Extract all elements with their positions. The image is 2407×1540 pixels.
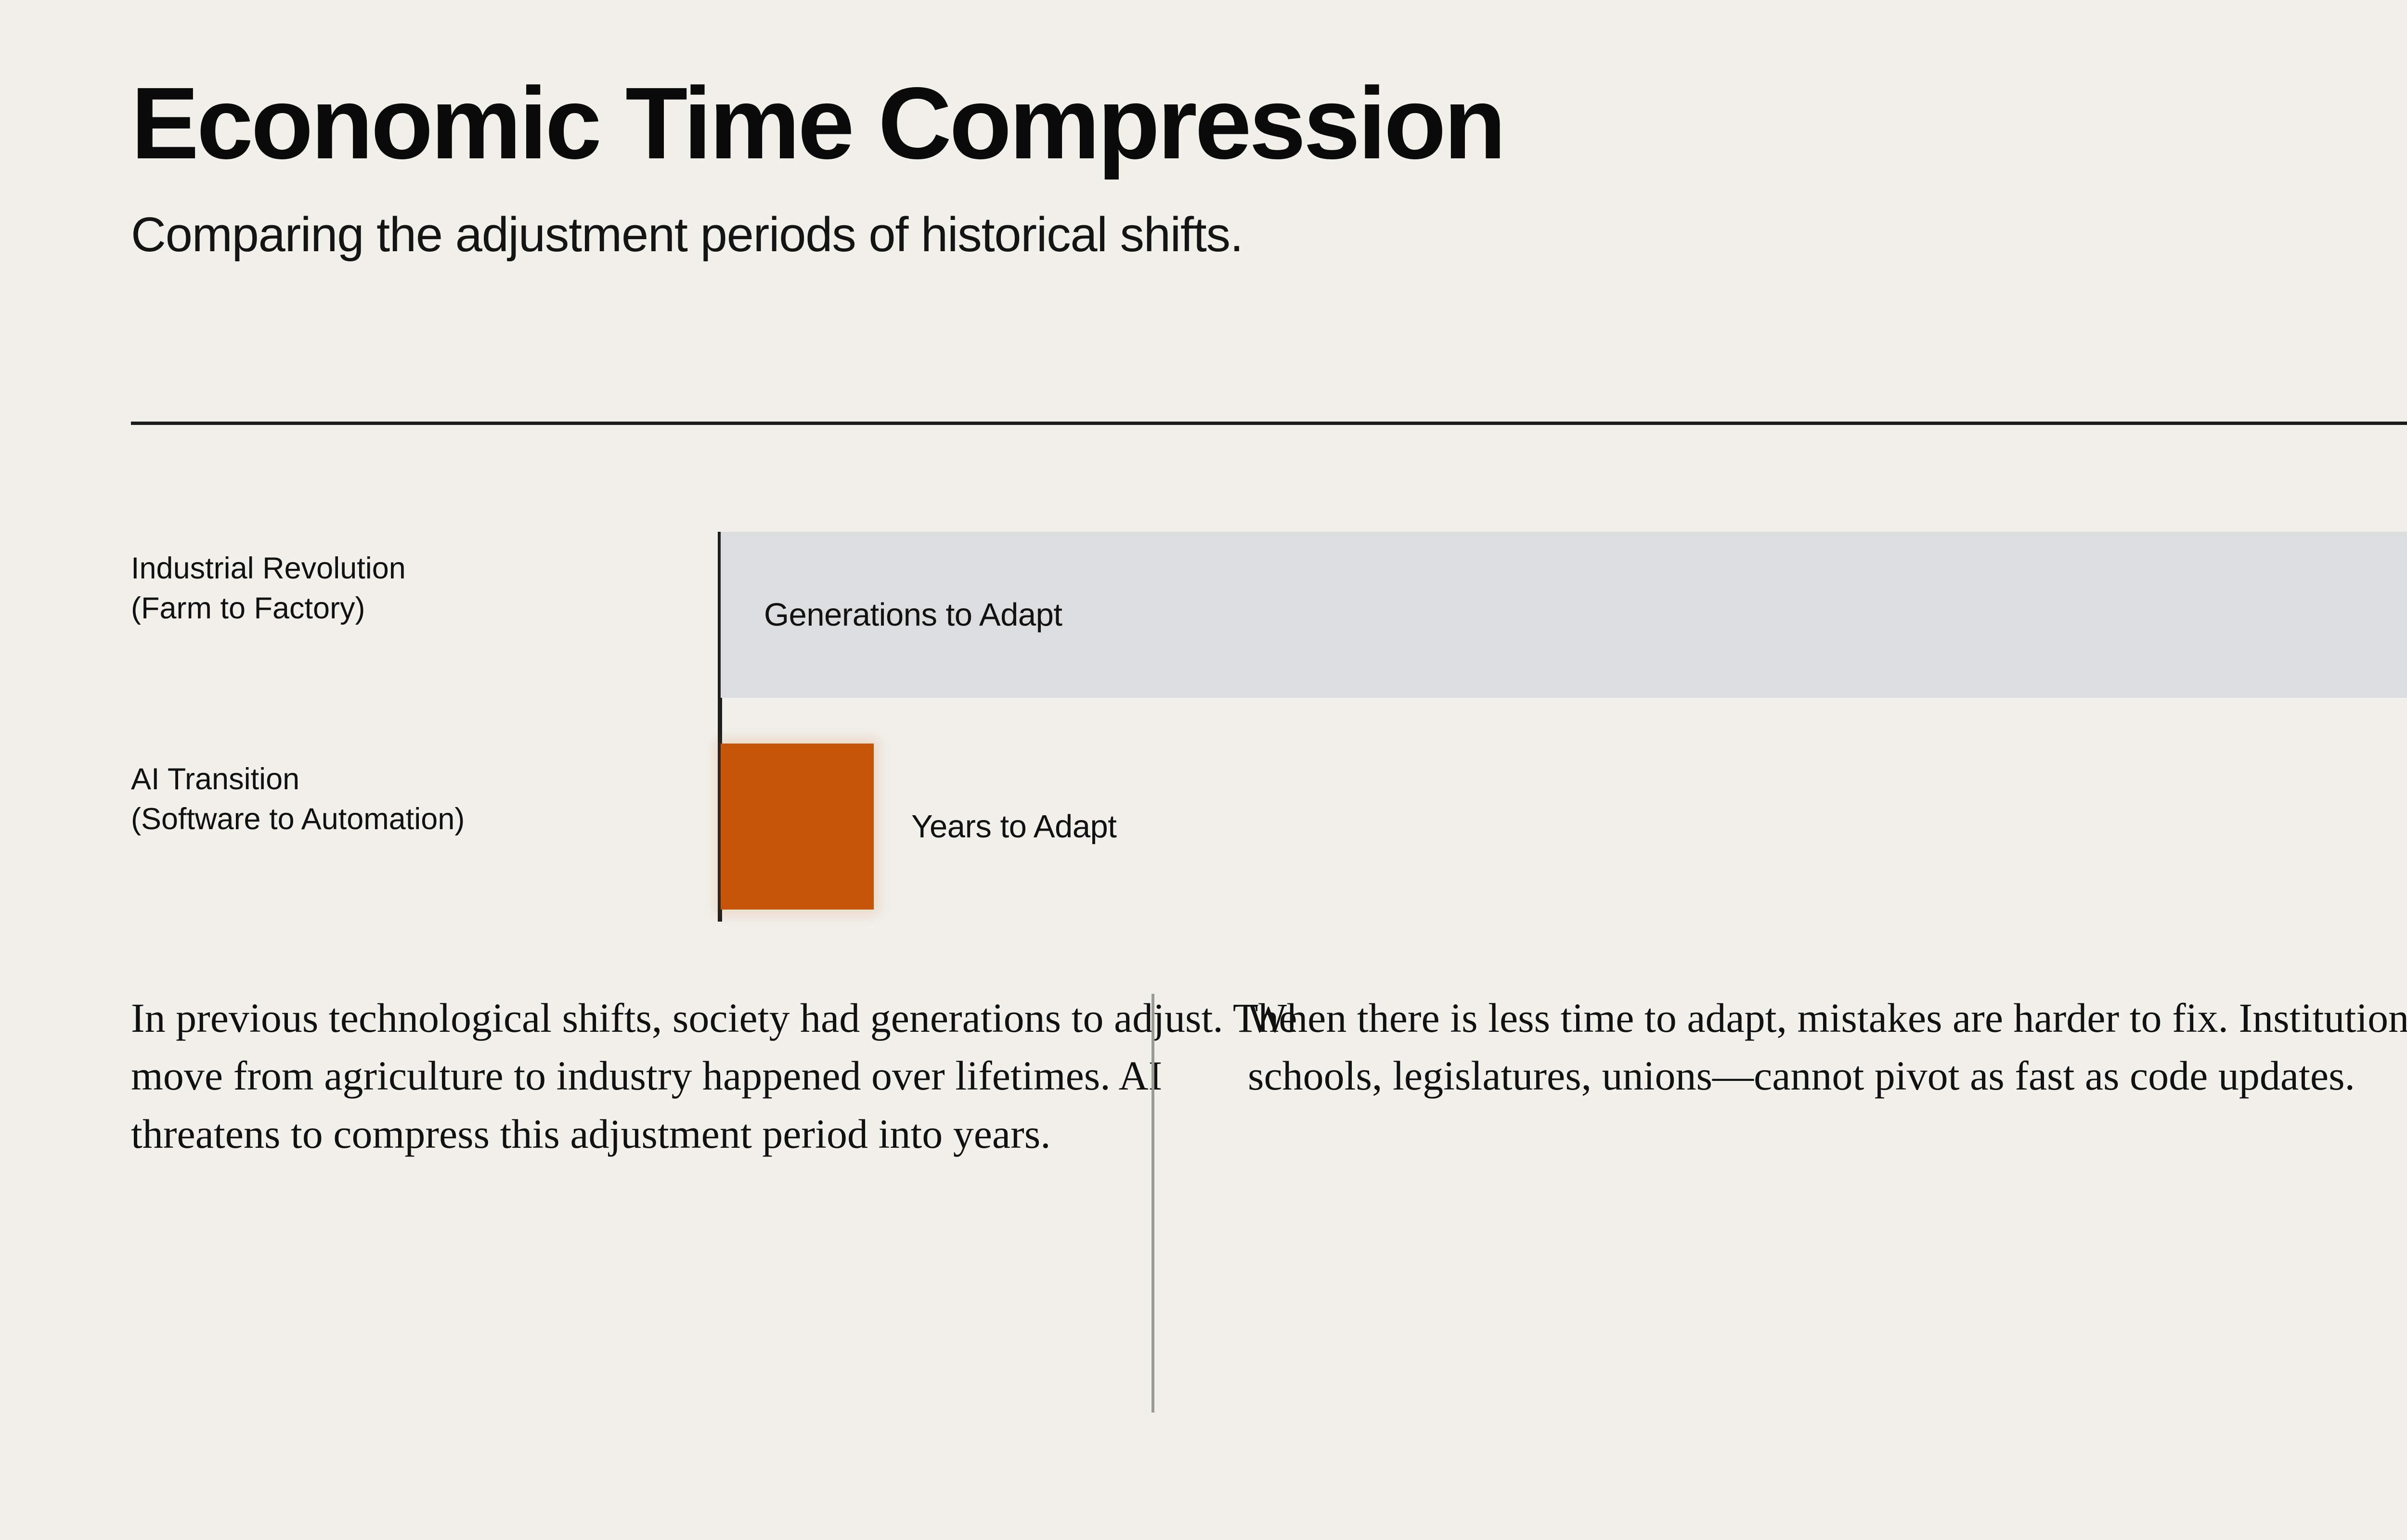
chart-row-ai-transition: AI Transition (Software to Automation) Y…	[0, 736, 2407, 919]
page-title: Economic Time Compression	[131, 72, 2407, 174]
chart-row-industrial-revolution: Industrial Revolution (Farm to Factory) …	[0, 525, 2407, 707]
page-subtitle: Comparing the adjustment periods of hist…	[131, 211, 2407, 259]
bar-category-label: AI Transition (Software to Automation)	[131, 759, 689, 839]
bar-category-label-line2: (Farm to Factory)	[131, 589, 689, 629]
body-column-right: When there is less time to adapt, mistak…	[1248, 989, 2407, 1105]
bar-category-label-line1: Industrial Revolution	[131, 552, 406, 585]
body-paragraph-right: When there is less time to adapt, mistak…	[1248, 989, 2407, 1105]
body-column-left: In previous technological shifts, societ…	[131, 989, 1315, 1163]
column-divider	[1152, 994, 1154, 1412]
bar-category-label: Industrial Revolution (Farm to Factory)	[131, 549, 689, 629]
header: Economic Time Compression Comparing the …	[131, 72, 2407, 259]
body-paragraph-left: In previous technological shifts, societ…	[131, 989, 1315, 1163]
bar-ai-transition	[721, 744, 874, 910]
bar-category-label-line2: (Software to Automation)	[131, 799, 689, 839]
bar-value-label-ai-transition: Years to Adapt	[911, 744, 1116, 910]
infographic-page: Economic Time Compression Comparing the …	[0, 0, 2407, 1540]
header-divider	[131, 422, 2407, 425]
body-columns: In previous technological shifts, societ…	[131, 989, 2407, 1432]
bar-category-label-line1: AI Transition	[131, 762, 299, 796]
bar-value-label-industrial-revolution: Generations to Adapt	[764, 532, 1062, 698]
bar-chart: Industrial Revolution (Farm to Factory) …	[0, 525, 2407, 924]
